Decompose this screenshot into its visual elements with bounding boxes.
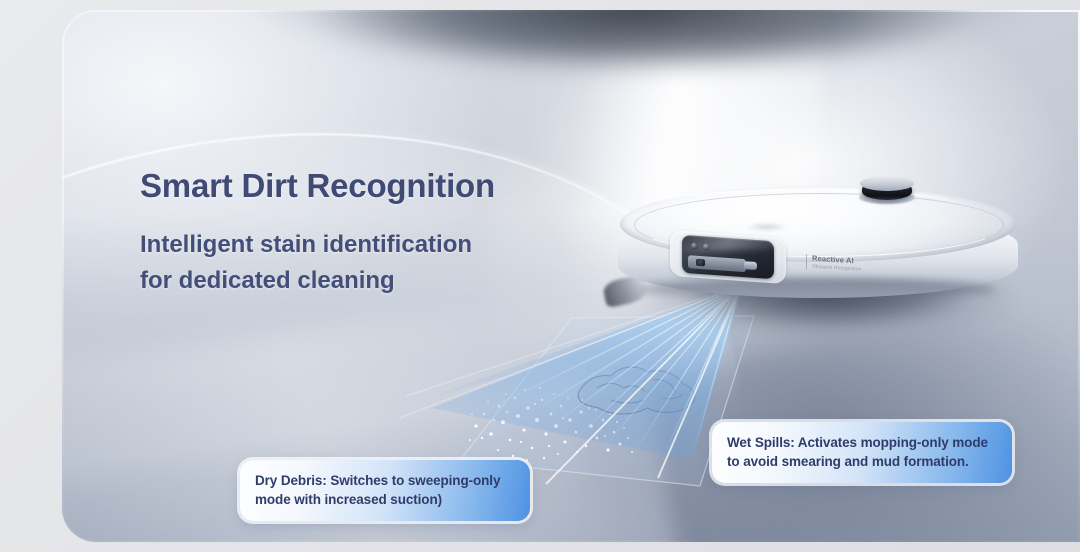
robot-under-shadow [640, 278, 996, 302]
callout-wet-spills-line-1: Wet Spills: Activates mopping-only mode [727, 433, 997, 452]
laser-emitter-icon [696, 259, 705, 267]
callout-wet-spills: Wet Spills: Activates mopping-only mode … [712, 422, 1012, 483]
wet-spill-puddle [567, 358, 707, 420]
subtitle-line-1: Intelligent stain identification [140, 227, 610, 263]
lidar-cap [860, 176, 914, 191]
page-root: Reactive AI Obstacle Recognition Smart D… [0, 0, 1080, 552]
lidar-turret [860, 176, 914, 206]
callout-dry-debris-line-1: Dry Debris: Switches to sweeping-only [255, 471, 515, 490]
marketing-copy: Smart Dirt Recognition Intelligent stain… [140, 168, 610, 300]
robot-vacuum: Reactive AI Obstacle Recognition [618, 186, 1018, 322]
obstacle-sensor-module [682, 235, 774, 279]
background-blur-foreground [252, 10, 1032, 64]
callout-dry-debris-line-2: mode with increased suction) [255, 490, 515, 509]
subtitle-line-2: for dedicated cleaning [140, 263, 610, 299]
structured-light-emitter-icon [744, 261, 757, 270]
page-title: Smart Dirt Recognition [140, 168, 610, 205]
hero-product-card: Reactive AI Obstacle Recognition Smart D… [62, 10, 1080, 542]
robot-button-cluster[interactable] [738, 220, 796, 234]
callout-dry-debris: Dry Debris: Switches to sweeping-only mo… [240, 460, 530, 521]
dry-debris-particles [458, 362, 638, 470]
callout-wet-spills-line-2: to avoid smearing and mud formation. [727, 452, 997, 471]
